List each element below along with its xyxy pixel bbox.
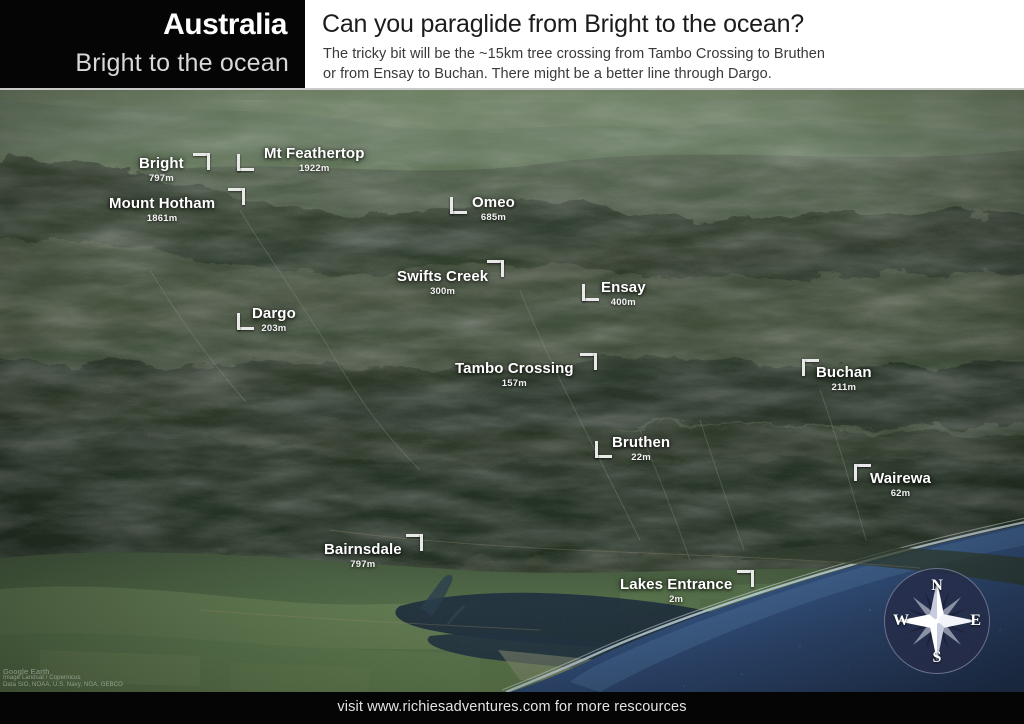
place-name: Bright [139, 155, 184, 172]
place-marker-corner-icon [406, 534, 423, 551]
place-label-omeo[interactable]: Omeo685m [472, 194, 515, 223]
place-name: Wairewa [870, 470, 931, 487]
place-marker-corner-icon [193, 153, 210, 170]
brand-title: Australia [163, 8, 287, 42]
place-name: Bruthen [612, 434, 670, 451]
place-elevation: 22m [612, 452, 670, 463]
place-elevation: 157m [455, 378, 574, 389]
place-name: Swifts Creek [397, 268, 488, 285]
place-elevation: 685m [472, 212, 515, 223]
place-elevation: 62m [870, 488, 931, 499]
place-name: Bairnsdale [324, 541, 402, 558]
place-label-dargo[interactable]: Dargo203m [252, 305, 296, 334]
place-name: Omeo [472, 194, 515, 211]
place-name: Dargo [252, 305, 296, 322]
compass-north-label: N [884, 577, 990, 595]
place-elevation: 300m [397, 286, 488, 297]
place-elevation: 797m [324, 559, 402, 570]
place-marker-corner-icon [450, 197, 467, 214]
place-label-mt-feathertop[interactable]: Mt Feathertop1922m [264, 145, 364, 174]
place-marker-corner-icon [582, 284, 599, 301]
brand-subtitle: Bright to the ocean [75, 48, 289, 78]
place-name: Lakes Entrance [620, 576, 732, 593]
place-label-mount-hotham[interactable]: Mount Hotham1861m [109, 195, 215, 224]
place-label-bright[interactable]: Bright797m [139, 155, 184, 184]
header-divider [0, 88, 1024, 90]
place-label-wairewa[interactable]: Wairewa62m [870, 470, 931, 499]
compass-rose: N E S W [884, 568, 990, 674]
header-description-line1: The tricky bit will be the ~15km tree cr… [323, 44, 825, 64]
place-label-ensay[interactable]: Ensay400m [601, 279, 646, 308]
place-marker-corner-icon [737, 570, 754, 587]
place-name: Buchan [816, 364, 872, 381]
place-elevation: 2m [620, 594, 732, 605]
google-earth-watermark: Google Earth Image Landsat / Copernicus … [3, 669, 123, 689]
place-label-bairnsdale[interactable]: Bairnsdale797m [324, 541, 402, 570]
place-name: Mount Hotham [109, 195, 215, 212]
place-elevation: 797m [139, 173, 184, 184]
compass-west-label: W [893, 612, 909, 630]
place-label-tambo-crossing[interactable]: Tambo Crossing157m [455, 360, 574, 389]
place-elevation: 400m [601, 297, 646, 308]
place-marker-corner-icon [595, 441, 612, 458]
watermark-line-3: Data SIO, NOAA, U.S. Navy, NGA, GEBCO [3, 682, 123, 689]
place-marker-corner-icon [228, 188, 245, 205]
header-description-line2: or from Ensay to Buchan. There might be … [323, 64, 825, 84]
satellite-map[interactable]: Bright797mMt Feathertop1922mMount Hotham… [0, 90, 1024, 692]
place-elevation: 203m [252, 323, 296, 334]
place-label-swifts-creek[interactable]: Swifts Creek300m [397, 268, 488, 297]
place-marker-corner-icon [237, 154, 254, 171]
place-marker-corner-icon [487, 260, 504, 277]
compass-east-label: E [970, 612, 981, 630]
place-label-bruthen[interactable]: Bruthen22m [612, 434, 670, 463]
header-bar: Australia Bright to the ocean Can you pa… [0, 0, 1024, 90]
place-label-buchan[interactable]: Buchan211m [816, 364, 872, 393]
headline: Can you paraglide from Bright to the oce… [322, 9, 804, 39]
place-marker-corner-icon [854, 464, 871, 481]
place-elevation: 1861m [109, 213, 215, 224]
map-poster: Australia Bright to the ocean Can you pa… [0, 0, 1024, 724]
place-elevation: 211m [816, 382, 872, 393]
footer-bar: visit www.richiesadventures.com for more… [0, 692, 1024, 724]
place-name: Mt Feathertop [264, 145, 364, 162]
place-elevation: 1922m [264, 163, 364, 174]
footer-text: visit www.richiesadventures.com for more… [0, 699, 1024, 715]
place-label-lakes-entrance[interactable]: Lakes Entrance2m [620, 576, 732, 605]
header-description: The tricky bit will be the ~15km tree cr… [323, 44, 825, 84]
place-marker-corner-icon [580, 353, 597, 370]
brand-panel: Australia Bright to the ocean [0, 0, 305, 90]
compass-south-label: S [884, 649, 990, 667]
place-name: Tambo Crossing [455, 360, 574, 377]
place-name: Ensay [601, 279, 646, 296]
